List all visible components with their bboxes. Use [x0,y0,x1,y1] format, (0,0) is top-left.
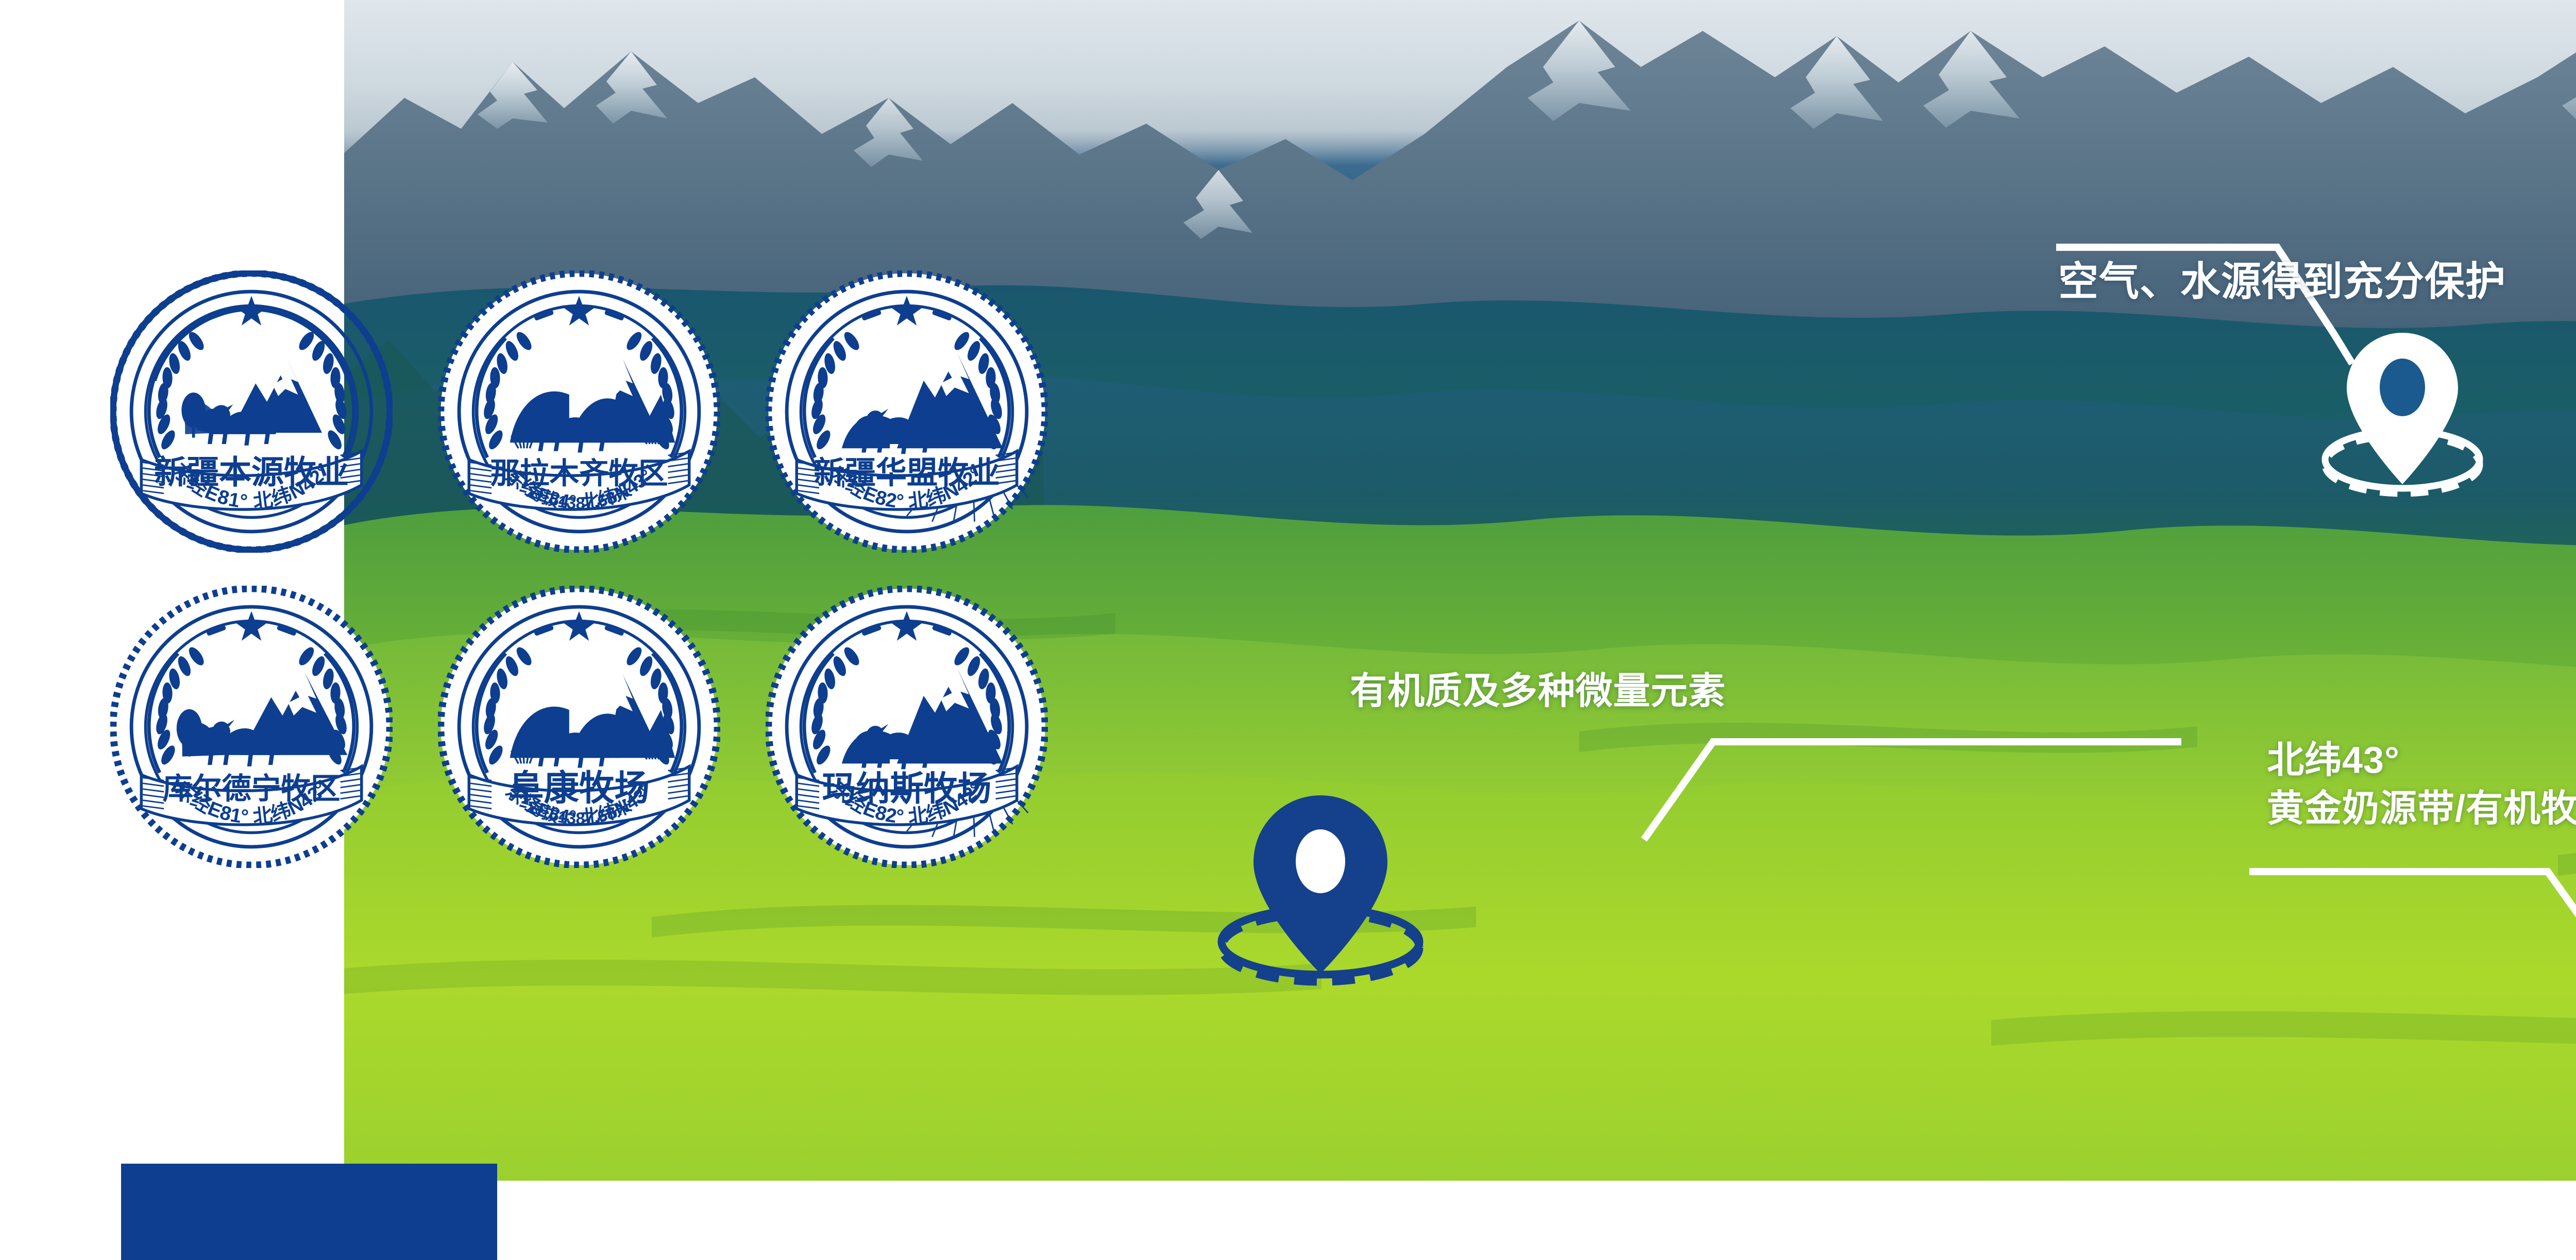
camel-mountain-seal-icon: 新疆华盟牧业 东经E82° 北纬N42° [766,270,1048,553]
callout-organic-connector-line [1306,736,2182,859]
callout-air-water: 空气、水源得到充分保护 [2058,258,2506,305]
bottom-left-blue-bar [121,1164,497,1260]
callout-latitude-line1: 北纬43° [2267,737,2576,785]
camel-mountain-seal-icon: 库尔德宁牧区 东经E81° 北纬N42° [110,586,393,868]
camel-mountain-seal-icon: 新疆本源牧业 东经E81° 北纬N42° [110,270,393,553]
badge-fukang[interactable]: 阜康牧场 海拔1387.68米 东经E84° 北纬N43° [438,586,720,868]
camel-mountain-seal-icon: 那拉木齐牧区 海拔1387.68米 东经E84° 北纬N43° [438,270,720,553]
callout-air-label: 空气、水源得到充分保护 [2058,258,2506,305]
farm-seal-badge-grid: 新疆本源牧业 东经E81° 北纬N42° [110,270,1048,889]
map-pin-white-marker[interactable] [2316,330,2491,500]
camel-mountain-seal-icon: 阜康牧场 海拔1387.68米 东经E84° 北纬N43° [438,586,720,868]
callout-latitude-connector-line [2249,865,2576,1035]
badge-benyuan[interactable]: 新疆本源牧业 东经E81° 北纬N42° [110,270,393,553]
callout-organic-matter: 有机质及多种微量元素 [1350,670,1726,713]
badge-kuerdening[interactable]: 库尔德宁牧区 东经E81° 北纬N42° [110,586,393,868]
camel-mountain-seal-icon: 玛纳斯牧场 东经E82° 北纬N42° [766,586,1048,868]
map-pin-blue-marker-organic[interactable] [1213,793,1435,994]
callout-latitude: 北纬43° 黄金奶源带/有机牧场 [2267,737,2576,833]
badge-huameng[interactable]: 新疆华盟牧业 东经E82° 北纬N42° [766,270,1048,553]
callout-latitude-line2: 黄金奶源带/有机牧场 [2267,785,2576,833]
callout-organic-label: 有机质及多种微量元素 [1350,670,1726,713]
badge-manasi[interactable]: 玛纳斯牧场 东经E82° 北纬N42° [766,586,1048,868]
badge-nalamuqi[interactable]: 那拉木齐牧区 海拔1387.68米 东经E84° 北纬N43° [438,270,720,553]
